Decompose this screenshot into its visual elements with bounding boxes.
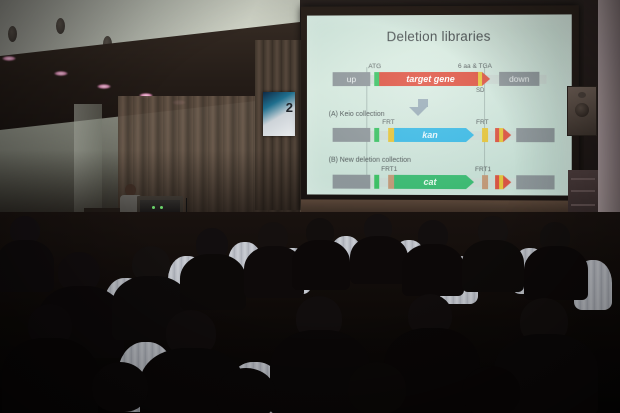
frt1-label-left: FRT1 xyxy=(381,166,397,173)
tga-label: 6 aa & TGA xyxy=(458,63,492,70)
target-gene-label: target gene xyxy=(379,72,482,86)
rack-panel xyxy=(571,178,595,180)
ceiling-downlight xyxy=(97,84,111,89)
frt-label-left: FRT xyxy=(382,119,394,126)
sd-marker xyxy=(478,72,482,86)
atg-label: ATG xyxy=(368,63,381,70)
upstream-box xyxy=(333,175,371,189)
homology-marker xyxy=(374,175,379,189)
frt1-label-right: FRT1 xyxy=(475,166,491,173)
speaker-tweeter xyxy=(578,92,586,98)
audience-area xyxy=(0,212,620,413)
audience-shoulder xyxy=(462,240,524,292)
frt-site-right xyxy=(482,128,488,142)
ceiling-downlight xyxy=(2,56,16,61)
slide-row-reference: up target gene down ATG 6 aa & TGA SD xyxy=(307,67,572,91)
audience-shoulder xyxy=(2,338,98,413)
stop-arrowhead xyxy=(503,175,511,189)
loudspeaker xyxy=(567,86,597,136)
slide-title: Deletion libraries xyxy=(307,28,572,44)
target-gene-bar: target gene xyxy=(379,72,482,86)
slide-row-new-deletion: (B) New deletion collection cat FRT1 FRT… xyxy=(307,170,572,195)
ceiling-vent xyxy=(8,26,17,42)
ceiling-downlight xyxy=(54,71,68,76)
rack-panel xyxy=(571,204,595,206)
presentation-slide: Deletion libraries up target gene down xyxy=(307,14,572,195)
equipment-led xyxy=(152,206,155,209)
venue-banner: 2 xyxy=(263,92,295,136)
cat-cassette-bar: cat xyxy=(394,175,466,189)
frt1-site-right xyxy=(482,175,488,189)
stop-arrowhead xyxy=(503,128,511,142)
audience-head xyxy=(216,368,276,413)
audience-shoulder xyxy=(292,240,350,290)
upstream-label: up xyxy=(333,72,371,86)
downstream-box: down xyxy=(499,72,539,86)
new-deletion-row-label: (B) New deletion collection xyxy=(329,157,411,164)
homology-marker xyxy=(374,128,379,142)
downstream-box xyxy=(516,128,554,142)
audience-head xyxy=(92,362,148,412)
kan-label: kan xyxy=(394,128,466,142)
audience-head xyxy=(348,362,406,413)
cat-label: cat xyxy=(394,175,466,189)
cat-arrowhead xyxy=(466,175,474,189)
arrow-stem xyxy=(418,99,428,107)
kan-arrowhead xyxy=(466,128,474,142)
slide-row-keio: (A) Keio collection kan FRT FRT xyxy=(307,123,572,147)
conference-room-photo: 2 Deletion libraries up target ge xyxy=(0,0,620,413)
upstream-box xyxy=(333,128,371,142)
audience-shoulder xyxy=(180,254,246,310)
frt-label-right: FRT xyxy=(476,119,489,126)
banner-number: 2 xyxy=(286,100,293,115)
audience-head xyxy=(462,366,520,413)
kan-cassette-bar: kan xyxy=(394,128,466,142)
rack-panel xyxy=(571,190,595,192)
audience-shoulder xyxy=(402,244,464,296)
audience-shoulder xyxy=(350,236,408,284)
arrow-tip xyxy=(409,107,427,116)
upstream-box: up xyxy=(333,72,371,86)
keio-row-label: (A) Keio collection xyxy=(329,111,385,118)
sd-label: SD xyxy=(476,88,484,94)
audience-shoulder xyxy=(0,240,54,292)
audience-shoulder xyxy=(524,246,588,300)
ceiling-vent xyxy=(56,18,65,34)
downstream-label: down xyxy=(499,72,539,86)
speaker-cone xyxy=(575,103,589,117)
gene-arrowhead xyxy=(482,72,490,86)
equipment-led xyxy=(160,206,163,209)
projection-screen: Deletion libraries up target gene down xyxy=(301,5,579,211)
downstream-box xyxy=(516,175,554,189)
